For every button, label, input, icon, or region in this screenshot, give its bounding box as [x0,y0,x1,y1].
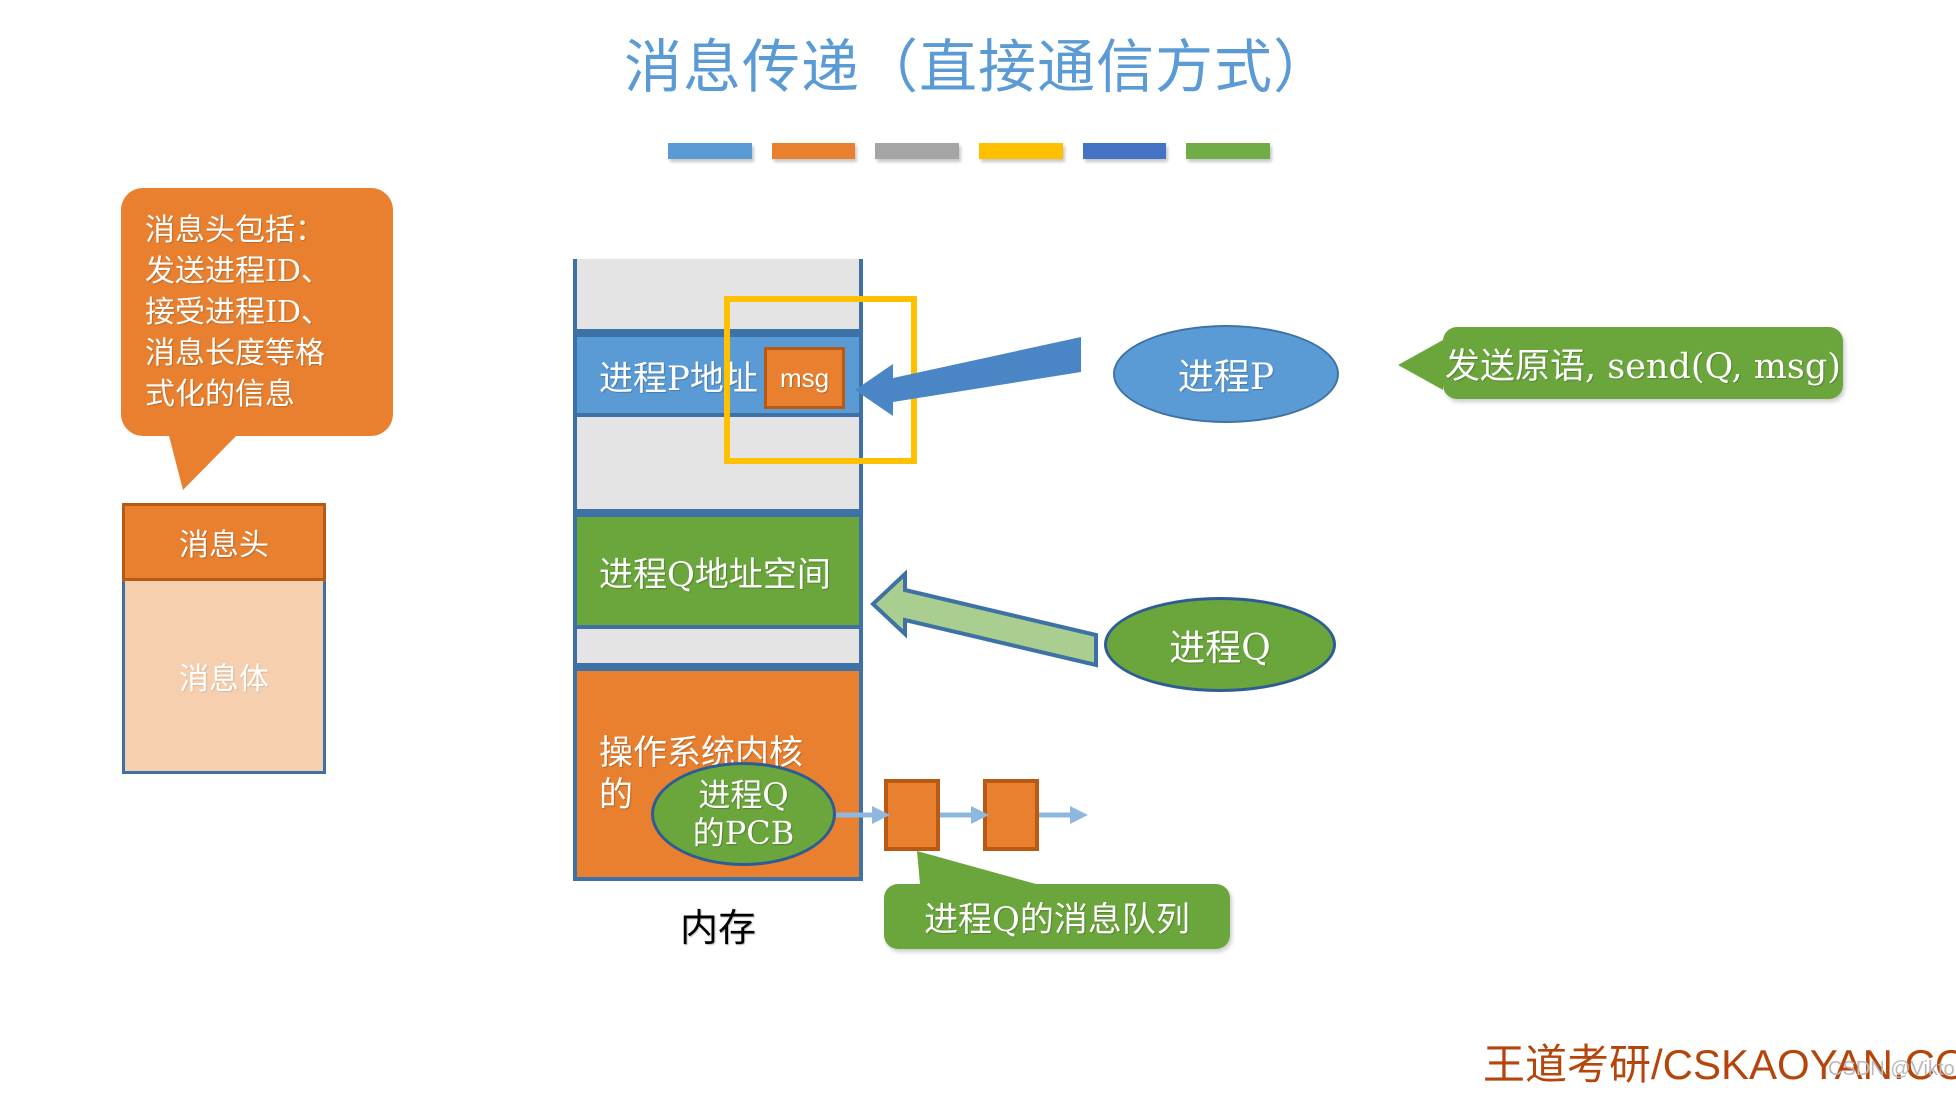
accent-segment-navy [1083,143,1167,159]
queue-arrow-2 [940,806,989,824]
slide-canvas: 消息传递（直接通信方式） 消息头包括： 发送进程ID、 接受进程ID、 消息长度… [0,0,1956,1094]
queue-message-box-1 [884,779,940,851]
send-callout-tail [1398,340,1443,390]
pcb-line-1: 进程Q [698,776,788,814]
accent-segment-orange [772,143,856,159]
message-header-callout: 消息头包括： 发送进程ID、 接受进程ID、 消息长度等格 式化的信息 [121,188,393,436]
queue-arrow-3 [1039,806,1088,824]
watermark-label: CSDN @Viktoriae [1828,1058,1956,1081]
callout-line-3: 接受进程ID、 [145,292,377,333]
process-q-pcb-ellipse: 进程Q 的PCB [651,762,836,866]
queue-callout-tail [917,851,1036,884]
memory-block-process-q: 进程Q地址空间 [577,513,859,629]
process-q-ellipse: 进程Q [1104,597,1336,692]
queue-message-box-2 [983,779,1039,851]
message-queue-callout: 进程Q的消息队列 [884,884,1230,949]
highlight-rectangle [724,296,917,464]
pcb-line-2: 的PCB [693,814,795,852]
send-primitive-callout: 发送原语, send(Q, msg) [1443,327,1843,399]
callout-line-1: 消息头包括： [145,210,377,251]
callout-line-2: 发送进程ID、 [145,251,377,292]
callout-line-4: 消息长度等格 [145,333,377,374]
accent-color-bar [668,143,1270,159]
message-head-box: 消息头 [122,503,326,581]
message-body-box: 消息体 [122,581,326,774]
process-p-ellipse: 进程P [1113,325,1339,423]
callout-line-5: 式化的信息 [145,374,377,415]
accent-segment-gray [875,143,959,159]
header-callout-tail [168,432,240,490]
receive-arrow [873,574,1096,665]
accent-segment-yellow [979,143,1063,159]
page-title: 消息传递（直接通信方式） [0,34,1956,100]
accent-segment-blue [668,143,752,159]
memory-caption: 内存 [680,897,756,952]
memory-free-block-3 [577,629,859,667]
accent-segment-green [1186,143,1270,159]
